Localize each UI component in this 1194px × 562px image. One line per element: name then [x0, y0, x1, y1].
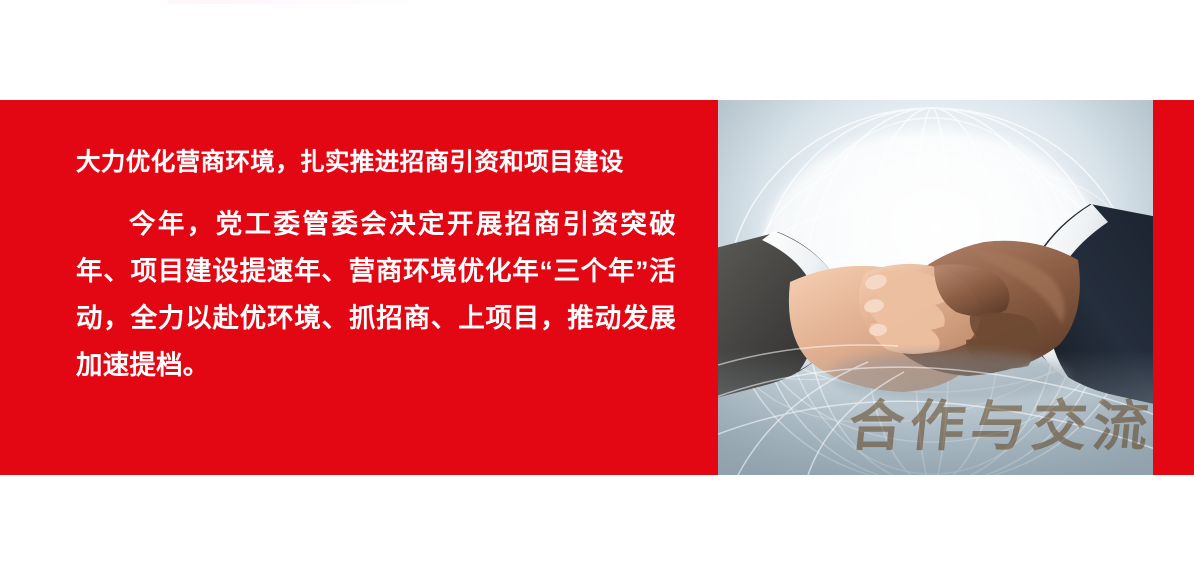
banner-body-block: 今年，党工委管委会决定开展招商引资突破年、项目建设提速年、营商环境优化年“三个年… — [76, 201, 676, 389]
banner-headline: 大力优化营商环境，扎实推进招商引资和项目建设 — [76, 148, 676, 179]
photo-caption-wrap: 合作与交流 合作与交流 — [718, 100, 1153, 475]
banner-text-column: 大力优化营商环境，扎实推进招商引资和项目建设 今年，党工委管委会决定开展招商引资… — [0, 100, 718, 475]
photo-caption: 合作与交流 — [843, 396, 1153, 451]
red-promo-banner: 大力优化营商环境，扎实推进招商引资和项目建设 今年，党工委管委会决定开展招商引资… — [0, 100, 1194, 475]
cropped-top-remnant — [168, 0, 408, 4]
handshake-globe-photo: 合作与交流 合作与交流 — [718, 100, 1153, 475]
banner-page: 大力优化营商环境，扎实推进招商引资和项目建设 今年，党工委管委会决定开展招商引资… — [0, 0, 1194, 562]
banner-body-paragraph: 今年，党工委管委会决定开展招商引资突破年、项目建设提速年、营商环境优化年“三个年… — [76, 201, 676, 389]
